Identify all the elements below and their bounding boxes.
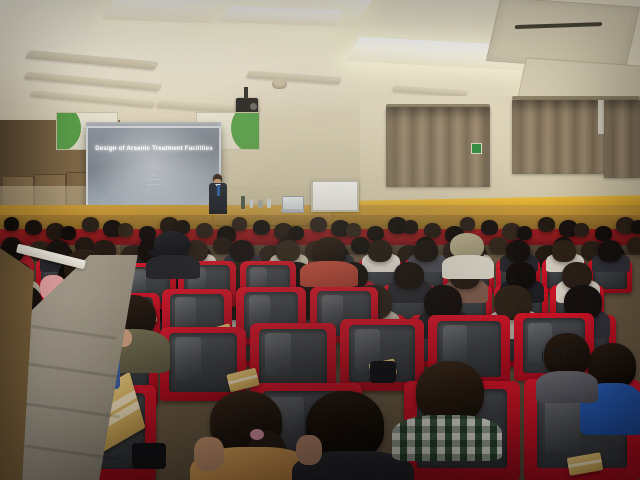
- audience-member: [598, 240, 622, 262]
- audience-member: [414, 240, 438, 262]
- audience-member: [460, 217, 475, 231]
- audience-member: [4, 217, 19, 231]
- audience-member: [631, 220, 640, 234]
- vent-slat: [514, 22, 602, 29]
- audience-member: [310, 217, 327, 232]
- person-clothing: [146, 255, 200, 279]
- seat-highlight: [175, 337, 201, 380]
- person-clothing: [442, 255, 494, 279]
- seat-highlight: [443, 325, 468, 366]
- banner-decoration: [231, 112, 260, 150]
- audience-member: [346, 223, 361, 237]
- audience-member: [595, 226, 612, 241]
- table-object: [258, 200, 263, 208]
- audience-member: [82, 217, 99, 232]
- seat-highlight: [265, 333, 291, 376]
- audience-member: [196, 223, 213, 238]
- person-clothing: [300, 261, 358, 287]
- audience-member: [118, 223, 133, 237]
- glasses-icon: [542, 351, 564, 362]
- audience-member: [232, 217, 247, 231]
- audience-member: [400, 361, 500, 449]
- slide-subtitle: ····· ··· ········ ····· ·· ···: [88, 174, 219, 187]
- table-object: [267, 199, 271, 208]
- seat-highlight: [175, 297, 196, 331]
- audience-member: [506, 240, 530, 262]
- cup: [250, 199, 253, 208]
- audience-member: [627, 237, 640, 254]
- audience-member: [300, 237, 354, 279]
- lecture-hall-photo: ···· ····· ······ Design of Arsenic Trea…: [0, 0, 640, 480]
- projector-lens: [250, 103, 257, 110]
- audience-member: [394, 262, 424, 289]
- audience-member: [253, 220, 270, 235]
- audience-member: [230, 240, 254, 262]
- banner-decoration: [56, 112, 81, 150]
- tablet-stripe: [568, 459, 602, 467]
- audience-member: [276, 240, 300, 262]
- audience-member: [540, 333, 596, 397]
- audience-member: [574, 223, 589, 237]
- person-hair: [416, 361, 484, 423]
- audience-member: [25, 220, 42, 235]
- slide-subtitle-line: ····· ·· ···: [88, 183, 219, 187]
- projector-mount: [244, 87, 248, 99]
- hair-tie: [250, 429, 264, 440]
- exit-sign: [471, 143, 482, 154]
- audience-member: [538, 217, 555, 232]
- person-hand: [296, 435, 322, 465]
- presenter-tie: [217, 185, 220, 196]
- audience-member: [403, 220, 418, 234]
- person-clothing: [392, 415, 502, 461]
- handbag: [370, 361, 396, 383]
- person-hand: [194, 437, 224, 471]
- audience-member: [148, 231, 196, 271]
- audience-member: [368, 240, 392, 262]
- laptop-base: [281, 209, 304, 212]
- smoke-detector: [272, 78, 287, 89]
- whiteboard: [311, 180, 359, 212]
- audience-member: [367, 226, 384, 241]
- person-clothing: [536, 371, 598, 403]
- audience-member: [552, 240, 576, 262]
- audience-member: [61, 226, 76, 240]
- bottle: [241, 196, 245, 209]
- slide-title: Design of Arsenic Treatment Facilities: [94, 145, 214, 152]
- window-curtain: [604, 100, 640, 178]
- tablet-stripe: [228, 375, 258, 385]
- audience-member: [517, 226, 532, 240]
- audience-member: [424, 223, 441, 238]
- presenter-standing: [209, 174, 227, 214]
- audience-member: [444, 233, 492, 271]
- handbag: [132, 443, 166, 469]
